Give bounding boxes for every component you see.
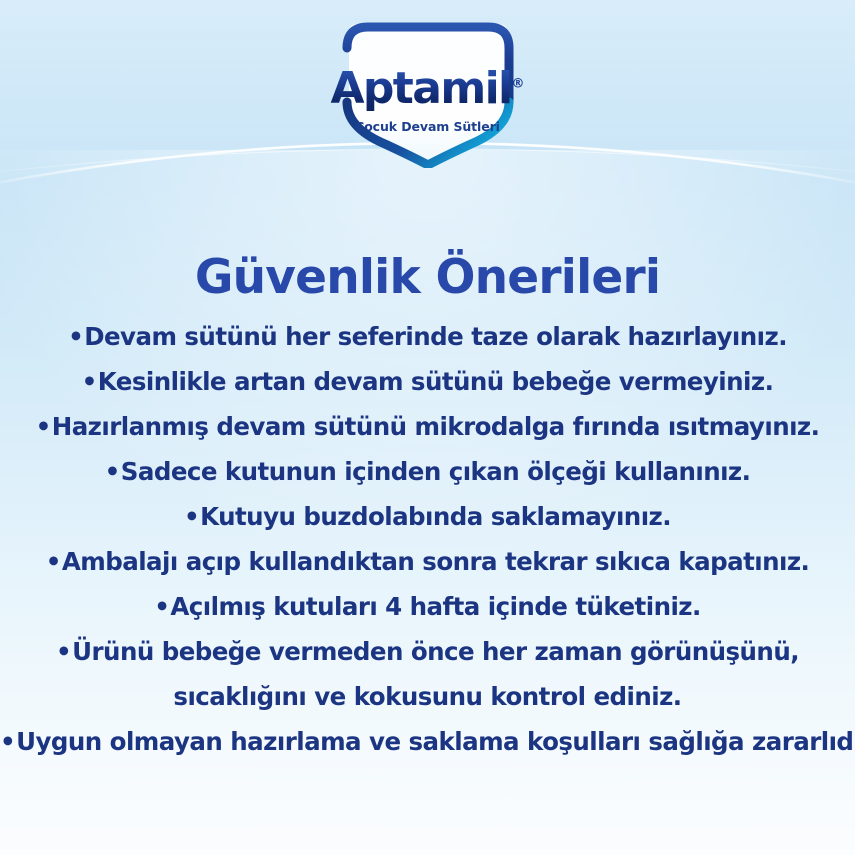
safety-tip-line: •Uygun olmayan hazırlama ve saklama koşu…: [0, 719, 855, 764]
safety-tip-text: sıcaklığını ve kokusunu kontrol ediniz.: [173, 682, 681, 711]
safety-tip-line: •Devam sütünü her seferinde taze olarak …: [0, 314, 855, 359]
safety-tip-text: Açılmış kutuları 4 hafta içinde tüketini…: [170, 592, 700, 621]
aptamil-logo: Aptamil® Çocuk Devam Sütleri: [313, 18, 543, 168]
safety-tip-text: Kesinlikle artan devam sütünü bebeğe ver…: [98, 367, 774, 396]
brand-name: Aptamil: [330, 63, 511, 114]
bullet-icon: •: [184, 494, 199, 539]
safety-tip-text: Kutuyu buzdolabında saklamayınız.: [200, 502, 671, 531]
page-title: Güvenlik Önerileri: [0, 253, 855, 302]
safety-tip-line: •Ürünü bebeğe vermeden önce her zaman gö…: [0, 629, 855, 674]
bullet-icon: •: [36, 404, 51, 449]
safety-tip-text: Sadece kutunun içinden çıkan ölçeği kull…: [121, 457, 751, 486]
safety-tip-line: •Sadece kutunun içinden çıkan ölçeği kul…: [0, 449, 855, 494]
safety-tip-text: Uygun olmayan hazırlama ve saklama koşul…: [16, 727, 855, 756]
poster-canvas: Aptamil® Çocuk Devam Sütleri Güvenlik Ön…: [0, 0, 855, 855]
safety-tips-list: •Devam sütünü her seferinde taze olarak …: [0, 314, 855, 764]
safety-tip-text: Ürünü bebeğe vermeden önce her zaman gör…: [72, 637, 799, 666]
bullet-icon: •: [105, 449, 120, 494]
safety-tip-line: •Hazırlanmış devam sütünü mikrodalga fır…: [0, 404, 855, 449]
safety-tip-line: •Kutuyu buzdolabında saklamayınız.: [0, 494, 855, 539]
bullet-icon: •: [46, 539, 61, 584]
safety-tip-text: Hazırlanmış devam sütünü mikrodalga fırı…: [52, 412, 820, 441]
bullet-icon: •: [0, 719, 15, 764]
safety-tip-line: •Kesinlikle artan devam sütünü bebeğe ve…: [0, 359, 855, 404]
bullet-icon: •: [82, 359, 97, 404]
bullet-icon: •: [56, 629, 71, 674]
safety-tip-text: Ambalajı açıp kullandıktan sonra tekrar …: [62, 547, 809, 576]
bullet-icon: •: [68, 314, 83, 359]
bullet-icon: •: [154, 584, 169, 629]
registered-trademark-icon: ®: [512, 76, 525, 91]
safety-tip-line: •Açılmış kutuları 4 hafta içinde tüketin…: [0, 584, 855, 629]
safety-tip-line: •Ambalajı açıp kullandıktan sonra tekrar…: [0, 539, 855, 584]
brand-wordmark: Aptamil®: [313, 67, 543, 111]
safety-tip-text: Devam sütünü her seferinde taze olarak h…: [84, 322, 787, 351]
safety-tip-line: sıcaklığını ve kokusunu kontrol ediniz.: [0, 674, 855, 719]
brand-tagline: Çocuk Devam Sütleri: [313, 119, 543, 134]
